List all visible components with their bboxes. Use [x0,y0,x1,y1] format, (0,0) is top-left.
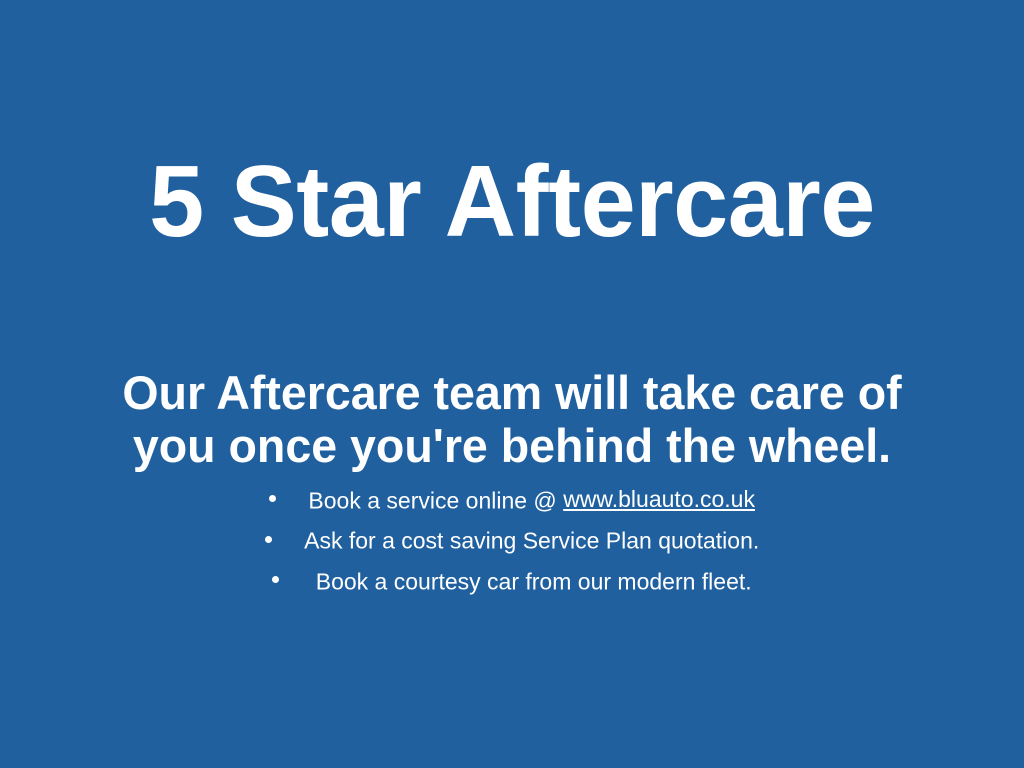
bullet-dot-icon [272,576,279,583]
slide-subtitle: Our Aftercare team will take care of you… [50,366,974,472]
bullet-text: Ask for a cost saving Service Plan quota… [304,528,759,554]
slide-subtitle-line-2: you once you're behind the wheel. [55,419,970,472]
bullet-dot-icon [265,536,272,543]
list-item: Book a courtesy car from our modern flee… [0,561,1024,601]
slide-canvas: 5 Star Aftercare Our Aftercare team will… [0,0,1024,768]
bullet-dot-icon [269,495,276,502]
website-link[interactable]: www.bluauto.co.uk [563,486,755,512]
bullet-text: Book a courtesy car from our modern flee… [316,568,752,594]
list-item: Book a service online @ www.bluauto.co.u… [0,480,1024,520]
slide-title: 5 Star Aftercare [10,152,1014,253]
slide-subtitle-line-1: Our Aftercare team will take care of [55,366,970,419]
list-item: Ask for a cost saving Service Plan quota… [0,520,1024,560]
bullet-text: Book a service online @ [308,487,563,513]
bullet-list: Book a service online @ www.bluauto.co.u… [0,480,1024,601]
